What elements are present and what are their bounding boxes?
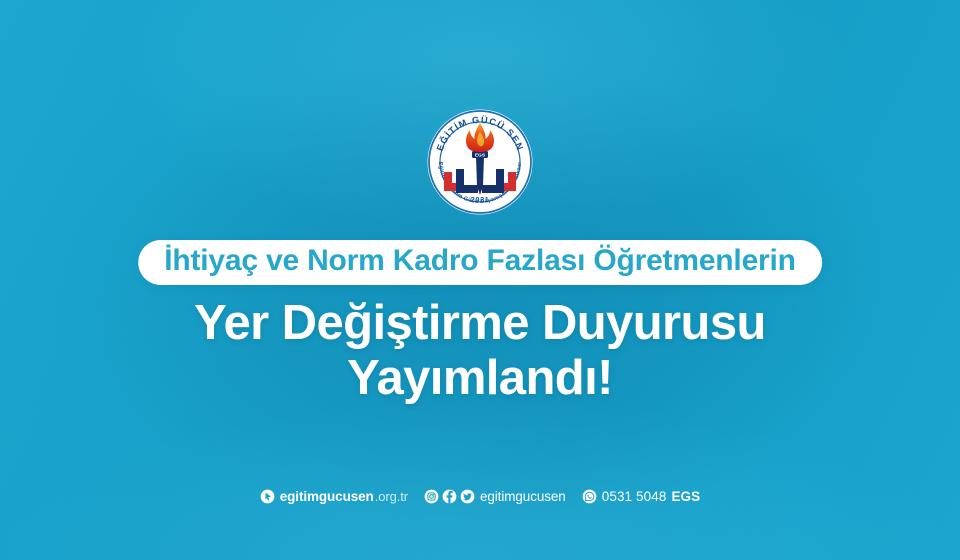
social-handle: egitimgucusen (480, 489, 566, 504)
announcement-poster: EĞİTİM GÜCÜ SEN Eğitim ve Bilim Gücü Day… (0, 0, 960, 560)
footer-social-group[interactable]: egitimgucusen (424, 489, 566, 504)
website-domain-suffix: .org.tr (375, 489, 408, 504)
organization-logo: EĞİTİM GÜCÜ SEN Eğitim ve Bilim Gücü Day… (426, 108, 534, 216)
footer-website-group[interactable]: egitimgucusen .org.tr (260, 489, 408, 504)
whatsapp-number: 0531 5048 (602, 489, 667, 504)
subtitle-text: İhtiyaç ve Norm Kadro Fazlası Öğretmenle… (164, 245, 796, 277)
footer-whatsapp-group[interactable]: 0531 5048 EGS (582, 489, 701, 504)
social-icon-list (424, 489, 475, 504)
logo-year: 2021 (471, 195, 490, 204)
headline: Yer Değiştirme Duyurusu Yayımlandı! (0, 296, 960, 407)
footer-contact-bar: egitimgucusen .org.tr (0, 489, 960, 504)
headline-line-2: Yayımlandı! (0, 351, 960, 406)
logo-emblem-initials: EGS (475, 153, 485, 159)
whatsapp-suffix: EGS (671, 489, 700, 504)
whatsapp-icon (582, 489, 597, 504)
website-name: egitimgucusen (280, 489, 374, 504)
twitter-icon[interactable] (460, 489, 475, 504)
instagram-icon[interactable] (424, 489, 439, 504)
subtitle-pill: İhtiyaç ve Norm Kadro Fazlası Öğretmenle… (138, 240, 822, 285)
facebook-icon[interactable] (442, 489, 457, 504)
cursor-pointer-icon (260, 489, 275, 504)
headline-line-1: Yer Değiştirme Duyurusu (0, 296, 960, 351)
